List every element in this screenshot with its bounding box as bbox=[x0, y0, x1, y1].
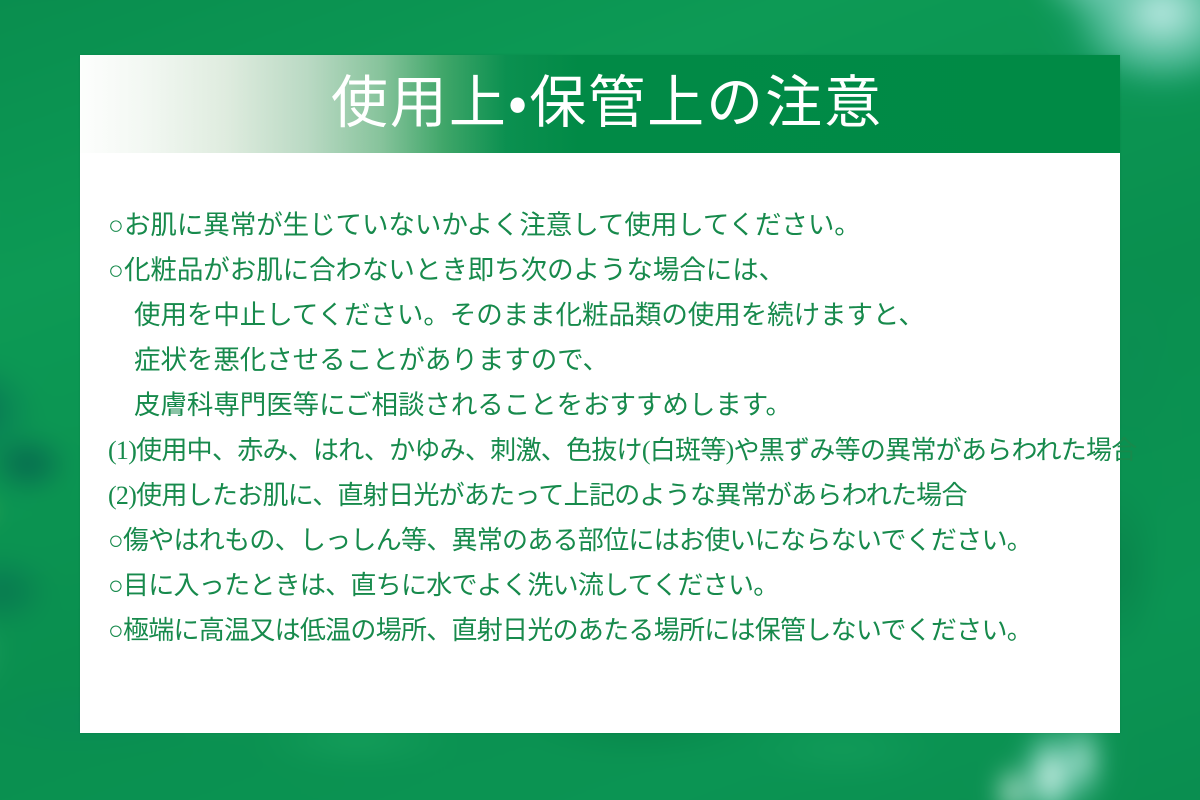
notice-line: (1)使用中、赤み、はれ、かゆみ、刺激、色抜け(白斑等)や黒ずみ等の異常があらわ… bbox=[80, 428, 1120, 473]
notice-body: ○お肌に異常が生じていないかよく注意して使用してください。 ○化粧品がお肌に合わ… bbox=[80, 153, 1120, 653]
notice-line: ○化粧品がお肌に合わないとき即ち次のような場合には、 bbox=[80, 248, 1120, 293]
notice-line: 皮膚科専門医等にご相談されることをおすすめします。 bbox=[80, 383, 1120, 428]
notice-line: 使用を中止してください。そのまま化粧品類の使用を続けますと、 bbox=[80, 293, 1120, 338]
notice-header-bar: 使用上・保管上の注意 bbox=[80, 55, 1120, 153]
notice-line: ○極端に高温又は低温の場所、直射日光のあたる場所には保管しないでください。 bbox=[80, 608, 1120, 653]
notice-list: ○お肌に異常が生じていないかよく注意して使用してください。 ○化粧品がお肌に合わ… bbox=[80, 203, 1120, 653]
notice-line: ○お肌に異常が生じていないかよく注意して使用してください。 bbox=[80, 203, 1120, 248]
notice-line: 症状を悪化させることがありますので、 bbox=[80, 338, 1120, 383]
notice-card: 使用上・保管上の注意 ○お肌に異常が生じていないかよく注意して使用してください。… bbox=[80, 55, 1120, 733]
page-stage: 使用上・保管上の注意 ○お肌に異常が生じていないかよく注意して使用してください。… bbox=[0, 0, 1200, 800]
notice-line: ○傷やはれもの、しっしん等、異常のある部位にはお使いにならないでください。 bbox=[80, 518, 1120, 563]
page-title: 使用上・保管上の注意 bbox=[317, 75, 883, 132]
notice-line: (2)使用したお肌に、直射日光があたって上記のような異常があらわれた場合 bbox=[80, 473, 1120, 518]
notice-line: ○目に入ったときは、直ちに水でよく洗い流してください。 bbox=[80, 563, 1120, 608]
